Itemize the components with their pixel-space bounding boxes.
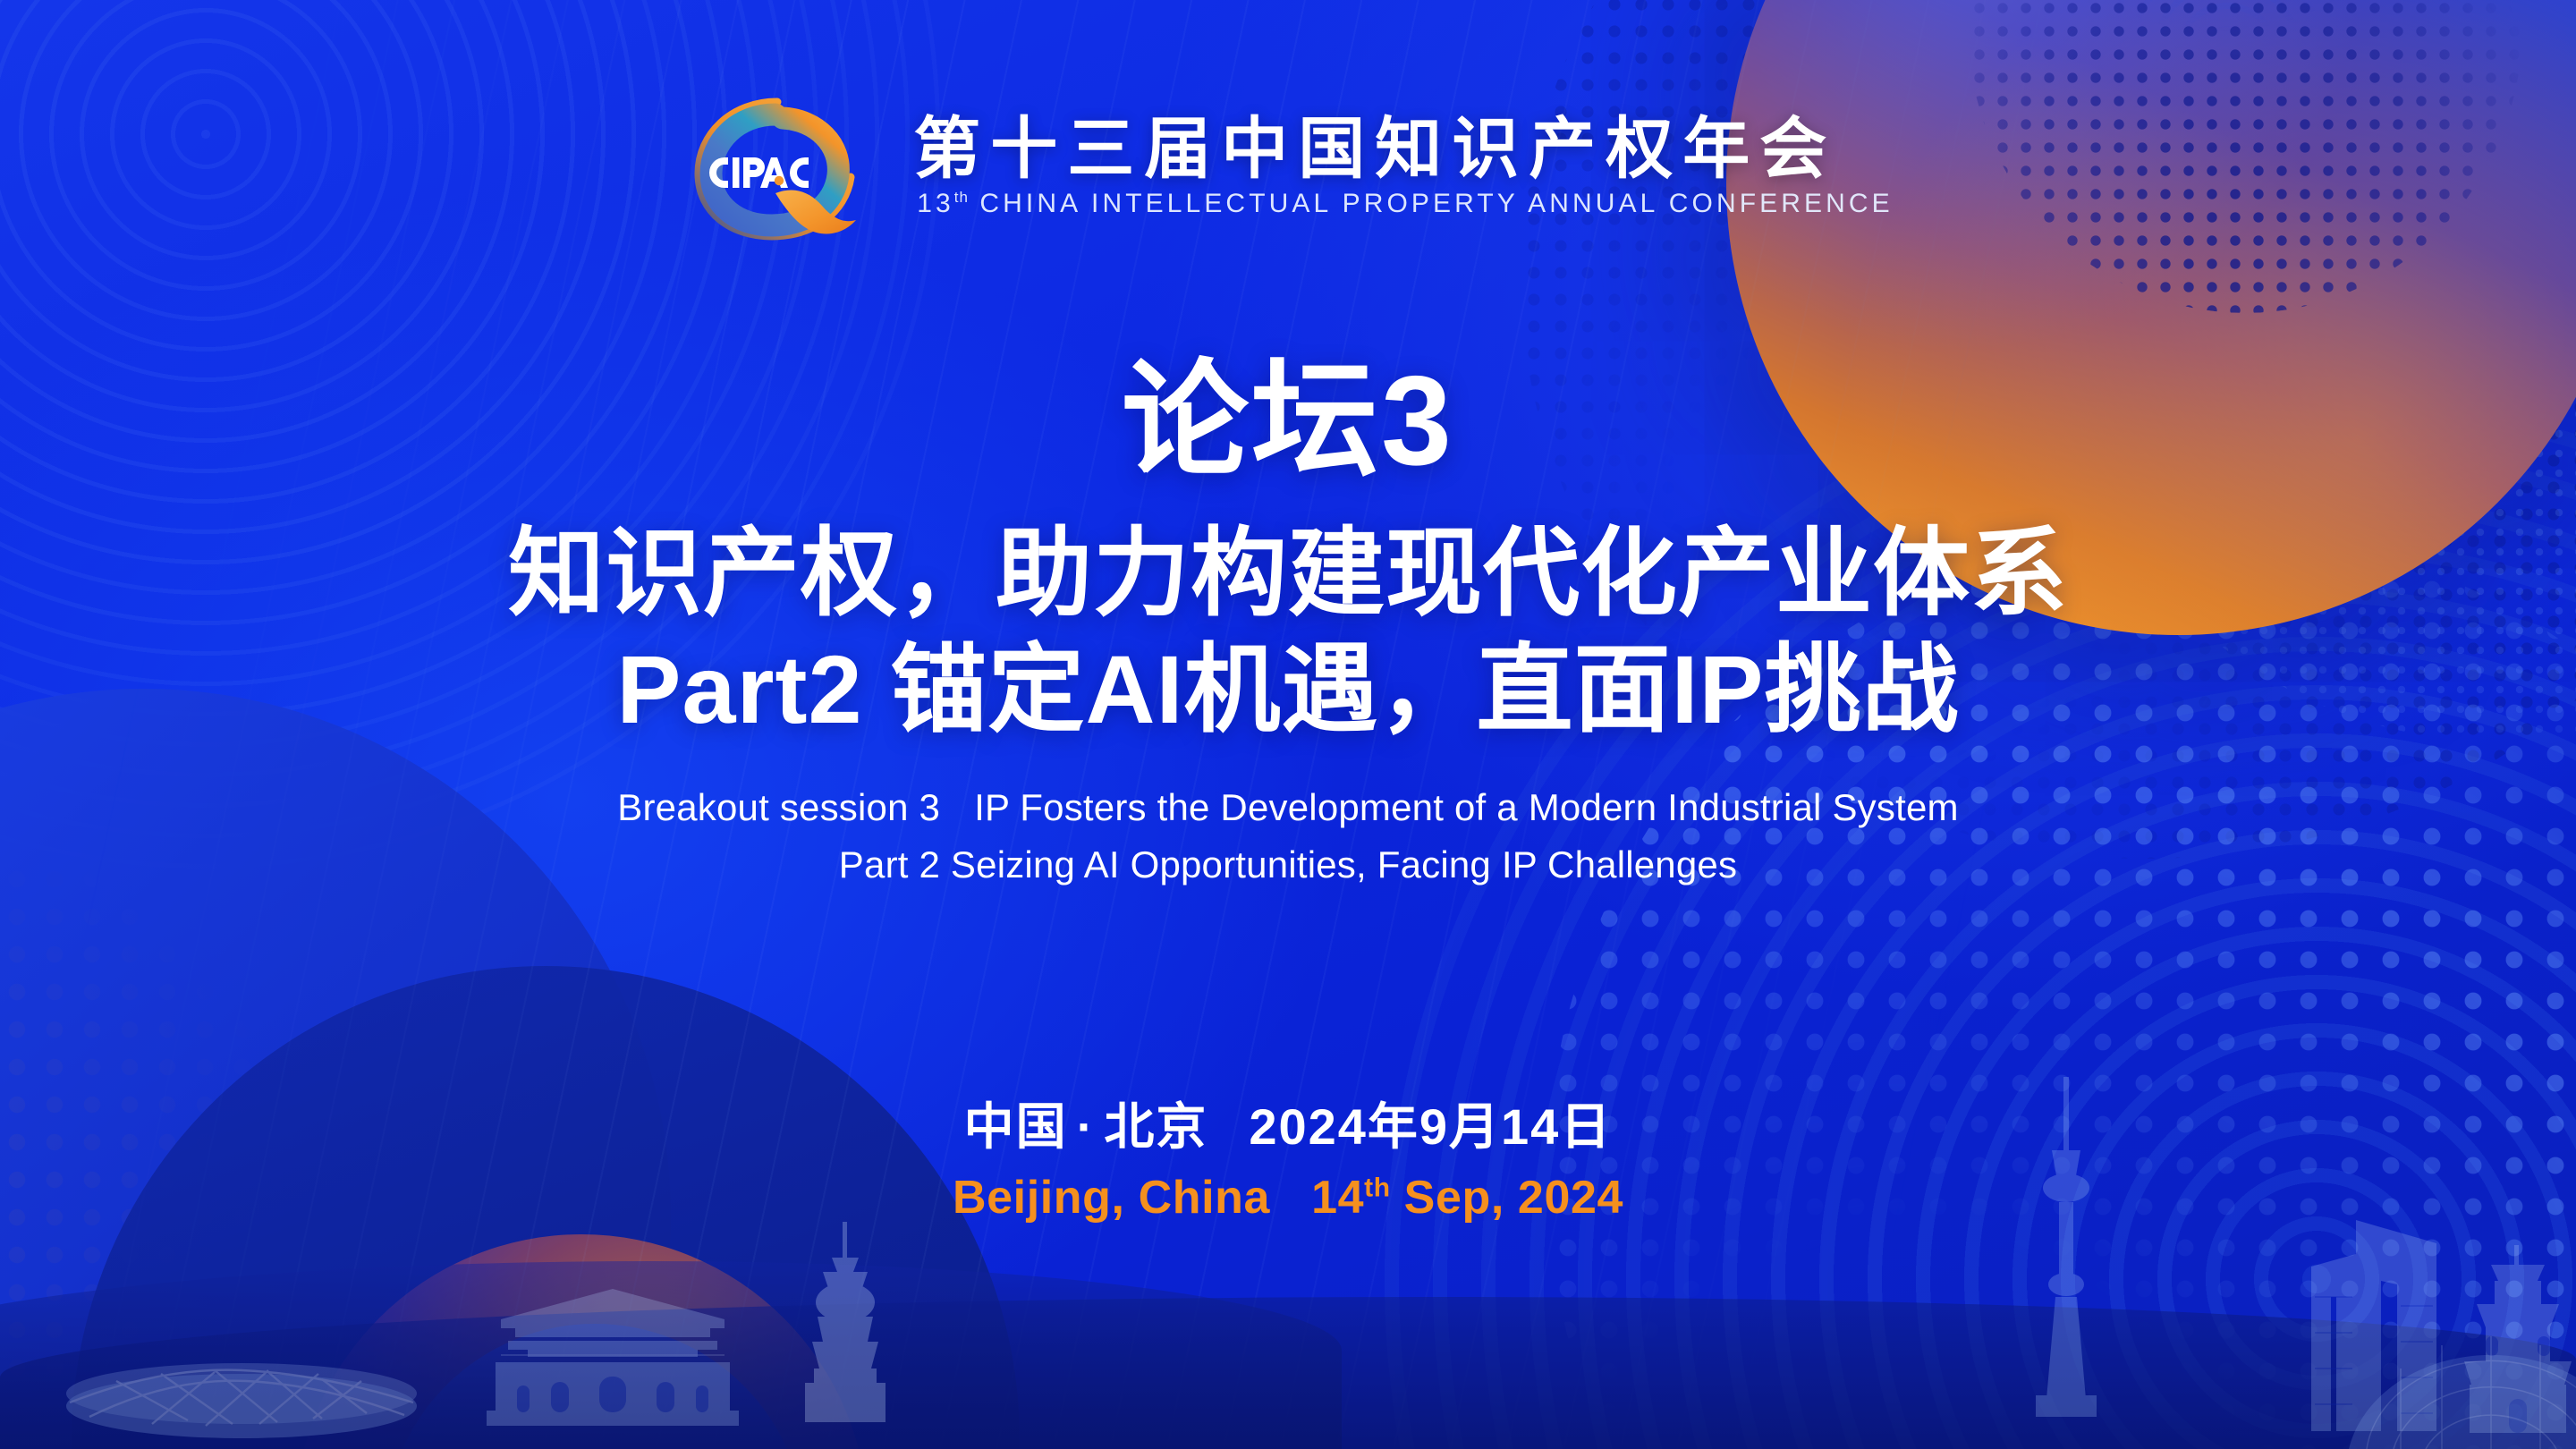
venue-separator: ·	[1068, 1093, 1105, 1160]
forum-number: 论坛3	[0, 358, 2576, 485]
conference-title-en-prefix: 13	[917, 189, 954, 218]
venue-location-en: Beijing, China	[953, 1172, 1270, 1224]
venue-date-en: Beijing, China14th Sep, 2024	[0, 1167, 2576, 1230]
conference-header-lockup: 第十三届中国知识产权年会 13th CHINA INTELLECTUAL PRO…	[0, 88, 2576, 245]
conference-poster: 第十三届中国知识产权年会 13th CHINA INTELLECTUAL PRO…	[0, 0, 2576, 1449]
forum-theme-en-line2: Part 2 Seizing AI Opportunities, Facing …	[0, 836, 2576, 894]
forum-theme-cn-line2: Part2 锚定AI机遇，直面IP挑战	[0, 631, 2576, 748]
venue-date-cn: 中国·北京2024年9月14日	[0, 1093, 2576, 1160]
venue-country-cn: 中国	[964, 1098, 1068, 1155]
conference-title-en-ordinal: th	[954, 189, 969, 206]
forum-theme-en-line1: Breakout session 3IP Fosters the Develop…	[0, 779, 2576, 836]
forum-headline-block: 论坛3 知识产权，助力构建现代化产业体系 Part2 锚定AI机遇，直面IP挑战…	[0, 358, 2576, 894]
forum-theme-en-line1-text: IP Fosters the Development of a Modern I…	[974, 786, 1959, 828]
conference-title-block: 第十三届中国知识产权年会 13th CHINA INTELLECTUAL PRO…	[913, 114, 1894, 219]
event-date-en-day: 14	[1311, 1172, 1364, 1224]
conference-title-en-rest: CHINA INTELLECTUAL PROPERTY ANNUAL CONFE…	[969, 189, 1894, 218]
event-date-cn: 2024年9月14日	[1249, 1098, 1612, 1155]
event-date-en-rest: Sep, 2024	[1391, 1172, 1623, 1224]
conference-title-cn: 第十三届中国知识产权年会	[913, 114, 1894, 185]
breakout-session-label: Breakout session 3	[617, 786, 940, 828]
forum-theme-cn-line1: 知识产权，助力构建现代化产业体系	[0, 515, 2576, 631]
cipac-logo-icon	[682, 88, 872, 245]
venue-city-cn: 北京	[1104, 1098, 1207, 1155]
venue-date-block: 中国·北京2024年9月14日 Beijing, China14th Sep, …	[0, 1093, 2576, 1230]
conference-title-en: 13th CHINA INTELLECTUAL PROPERTY ANNUAL …	[913, 189, 1894, 219]
cipac-logo	[682, 88, 872, 245]
event-date-en-ordinal: th	[1364, 1174, 1391, 1203]
